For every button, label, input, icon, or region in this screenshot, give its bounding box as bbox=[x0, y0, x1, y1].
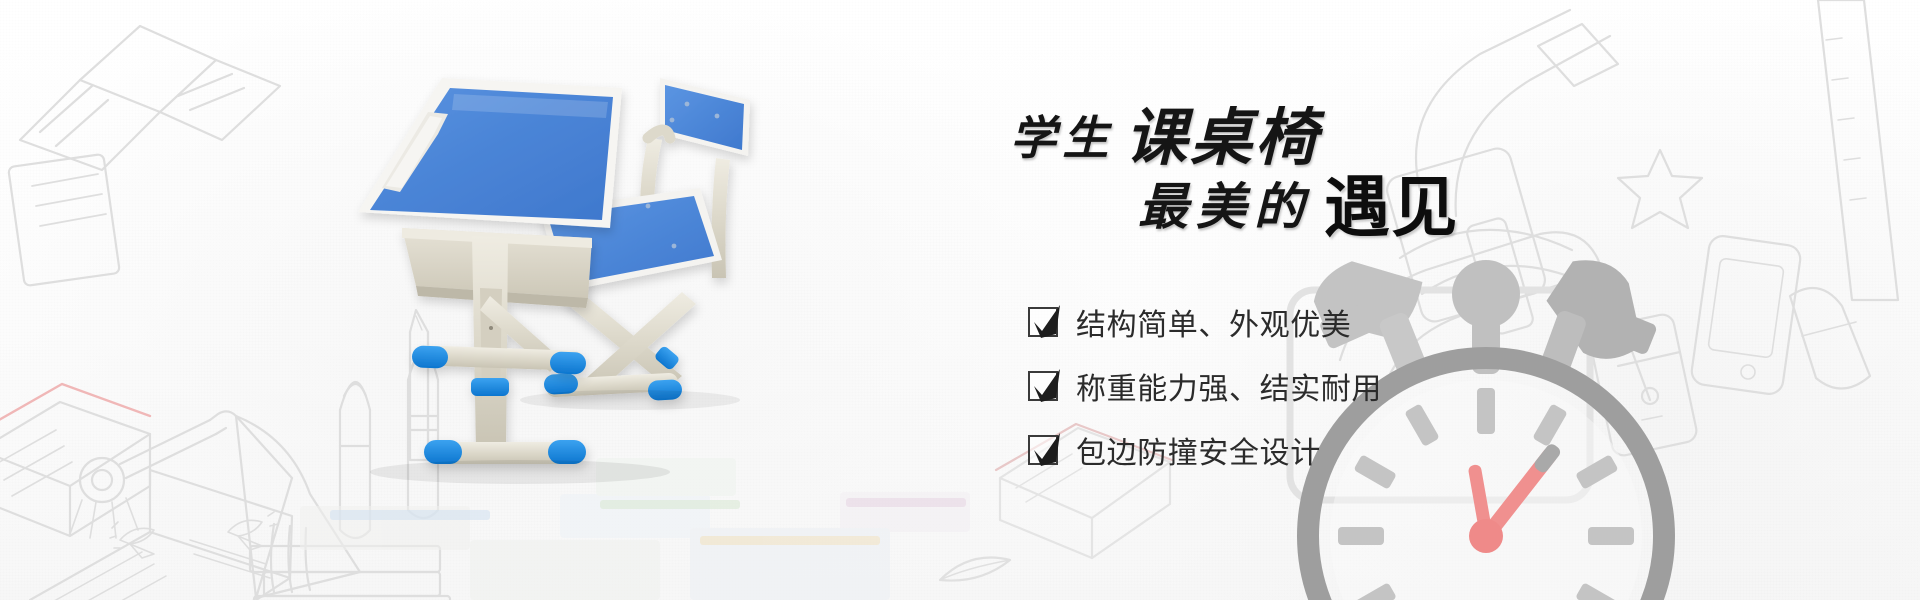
student-desk-and-chair-photo bbox=[330, 60, 890, 490]
checkbox-checked-icon bbox=[1028, 435, 1058, 465]
headline-block: 学生课桌椅 最美的遇见 bbox=[1010, 108, 1530, 240]
alarm-clock-illustration bbox=[0, 0, 1920, 600]
headline-line2-lead: 最美的 bbox=[1138, 179, 1312, 235]
feature-text-2: 称重能力强、结实耐用 bbox=[1076, 364, 1382, 408]
headline-line2-emphasis: 遇见 bbox=[1324, 168, 1459, 246]
checkbox-checked-icon bbox=[1028, 371, 1058, 401]
headline-line1-lead: 学生 bbox=[1010, 113, 1115, 164]
clock-top-knob bbox=[1452, 260, 1520, 328]
promo-banner: 学生课桌椅 最美的遇见 结构简单、外观优美 称重能力强、结实耐用 bbox=[0, 0, 1920, 600]
checkbox-checked-icon bbox=[1028, 307, 1058, 337]
feature-text-1: 结构简单、外观优美 bbox=[1076, 300, 1351, 344]
clock-center-pin bbox=[1469, 519, 1503, 553]
feature-item-2: 称重能力强、结实耐用 bbox=[1028, 364, 1382, 408]
feature-item-3: 包边防撞安全设计 bbox=[1028, 428, 1382, 472]
headline-line-1: 学生课桌椅 bbox=[1010, 108, 1530, 170]
headline-line-2: 最美的遇见 bbox=[1010, 174, 1530, 240]
feature-text-3: 包边防撞安全设计 bbox=[1076, 428, 1321, 472]
feature-list: 结构简单、外观优美 称重能力强、结实耐用 包边防撞安全设计 bbox=[1028, 300, 1382, 472]
headline-line1-emphasis: 课桌椅 bbox=[1125, 105, 1320, 173]
feature-item-1: 结构简单、外观优美 bbox=[1028, 300, 1382, 344]
